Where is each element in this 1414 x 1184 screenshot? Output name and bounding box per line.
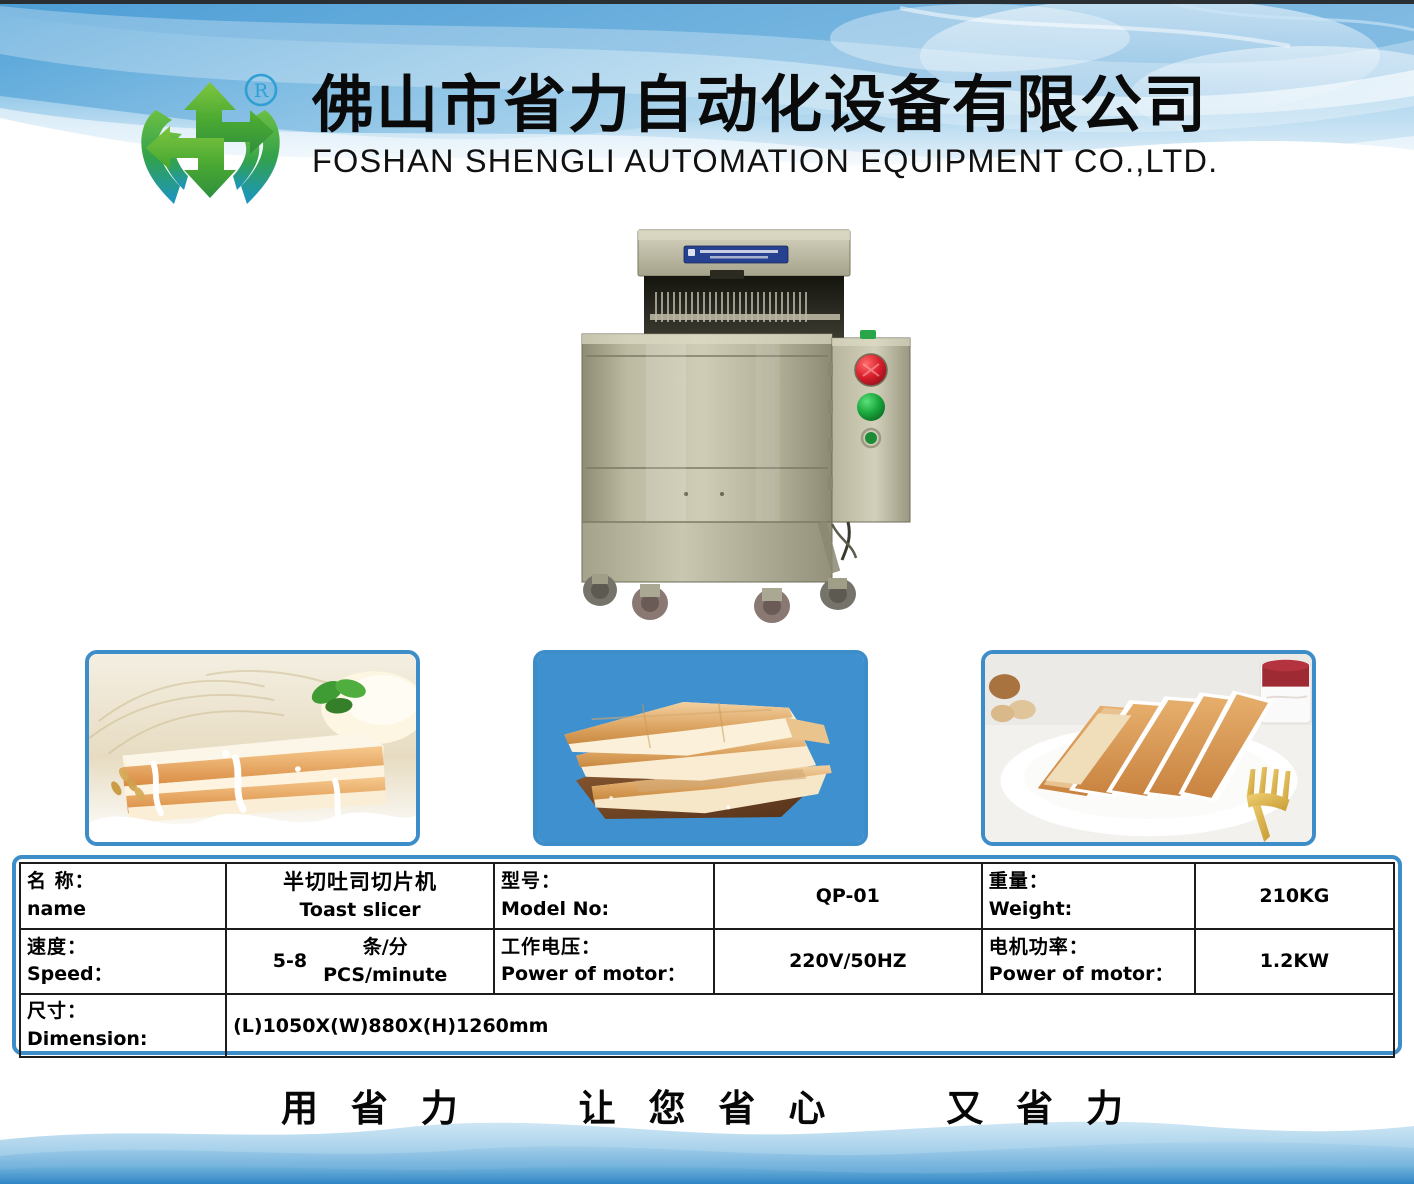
company-slogan: 用 省 力 让 您 省 心 又 省 力 bbox=[0, 1078, 1414, 1132]
company-name-cn: 佛山市省力自动化设备有限公司 bbox=[312, 72, 1322, 139]
spec-label-dimension: 尺寸： Dimension: bbox=[20, 994, 226, 1057]
spec-label-motor-power: 电机功率： Power of motor： bbox=[982, 929, 1195, 994]
speed-unit-en: PCS/minute bbox=[323, 961, 447, 990]
spec-label-weight-cn: 重量： bbox=[989, 868, 1188, 896]
spec-label-motor-power-en: Power of motor： bbox=[989, 961, 1188, 989]
spec-label-dimension-cn: 尺寸： bbox=[27, 998, 219, 1026]
slogan-segment-3: 又 省 力 bbox=[946, 1078, 1133, 1132]
spec-label-model: 型号： Model No: bbox=[494, 863, 714, 929]
spec-value-model: QP-01 bbox=[714, 863, 982, 929]
company-name-block: 佛山市省力自动化设备有限公司 FOSHAN SHENGLI AUTOMATION… bbox=[312, 72, 1322, 180]
spec-label-motor-power-cn: 电机功率： bbox=[989, 934, 1188, 962]
specification-table-container: 名 称： name 半切吐司切片机 Toast slicer 型号： Model… bbox=[12, 855, 1402, 1055]
speed-number: 5-8 bbox=[273, 950, 307, 972]
product-name-en: Toast slicer bbox=[233, 897, 487, 925]
company-logo: R bbox=[118, 66, 303, 216]
start-button bbox=[857, 393, 885, 421]
sliced-toast-on-wood-board-photo bbox=[533, 650, 868, 846]
spec-label-speed-cn: 速度： bbox=[27, 934, 219, 962]
speed-units: 条/分 PCS/minute bbox=[323, 933, 447, 990]
table-row: 名 称： name 半切吐司切片机 Toast slicer 型号： Model… bbox=[20, 863, 1394, 929]
company-name-en: FOSHAN SHENGLI AUTOMATION EQUIPMENT CO.,… bbox=[312, 143, 1322, 180]
product-name-cn: 半切吐司切片机 bbox=[233, 867, 487, 897]
spec-value-voltage: 220V/50HZ bbox=[714, 929, 982, 994]
spec-label-name-en: name bbox=[27, 896, 219, 924]
spec-label-model-cn: 型号： bbox=[501, 868, 707, 896]
panel-top-button bbox=[860, 330, 876, 339]
slogan-segment-1: 用 省 力 bbox=[281, 1078, 468, 1132]
slogan-segment-2: 让 您 省 心 bbox=[579, 1078, 836, 1132]
spec-label-voltage-en: Power of motor： bbox=[501, 961, 707, 989]
shengli-logo-icon: R bbox=[118, 66, 303, 216]
machine-photo-area bbox=[0, 222, 1414, 642]
table-row: 尺寸： Dimension: (L)1050X(W)880X(H)1260mm bbox=[20, 994, 1394, 1057]
spec-label-speed-en: Speed： bbox=[27, 961, 219, 989]
table-row: 速度： Speed： 5-8 条/分 PCS/minute 工作电压： Powe… bbox=[20, 929, 1394, 994]
spec-label-name: 名 称： name bbox=[20, 863, 226, 929]
spec-value-product-name: 半切吐司切片机 Toast slicer bbox=[226, 863, 494, 929]
machine-nameplate bbox=[684, 246, 788, 263]
toast-slicer-machine-illustration bbox=[560, 222, 940, 642]
spec-label-voltage: 工作电压： Power of motor： bbox=[494, 929, 714, 994]
toast-with-milk-splash-photo bbox=[85, 650, 420, 846]
spec-label-name-cn: 名 称： bbox=[27, 868, 219, 896]
spec-label-voltage-cn: 工作电压： bbox=[501, 934, 707, 962]
spec-label-model-en: Model No: bbox=[501, 896, 707, 924]
product-photos-row bbox=[0, 650, 1414, 850]
spec-label-weight-en: Weight: bbox=[989, 896, 1188, 924]
spec-label-dimension-en: Dimension: bbox=[27, 1026, 219, 1054]
page-header: R 佛山市省力自动化设备有限公司 FOSHAN SHENGLI AUTOMATI… bbox=[0, 0, 1414, 222]
spec-value-weight: 210KG bbox=[1195, 863, 1394, 929]
spec-label-speed: 速度： Speed： bbox=[20, 929, 226, 994]
toast-slices-on-plate-photo bbox=[981, 650, 1316, 846]
spec-label-weight: 重量： Weight: bbox=[982, 863, 1195, 929]
svg-text:R: R bbox=[254, 80, 269, 102]
indicator-light bbox=[865, 432, 877, 444]
specification-table: 名 称： name 半切吐司切片机 Toast slicer 型号： Model… bbox=[19, 862, 1395, 1058]
spec-value-speed: 5-8 条/分 PCS/minute bbox=[226, 929, 494, 994]
spec-value-motor-power: 1.2KW bbox=[1195, 929, 1394, 994]
registered-trademark-icon: R bbox=[246, 75, 276, 105]
spec-value-dimension: (L)1050X(W)880X(H)1260mm bbox=[226, 994, 1394, 1057]
speed-unit-cn: 条/分 bbox=[323, 933, 447, 962]
